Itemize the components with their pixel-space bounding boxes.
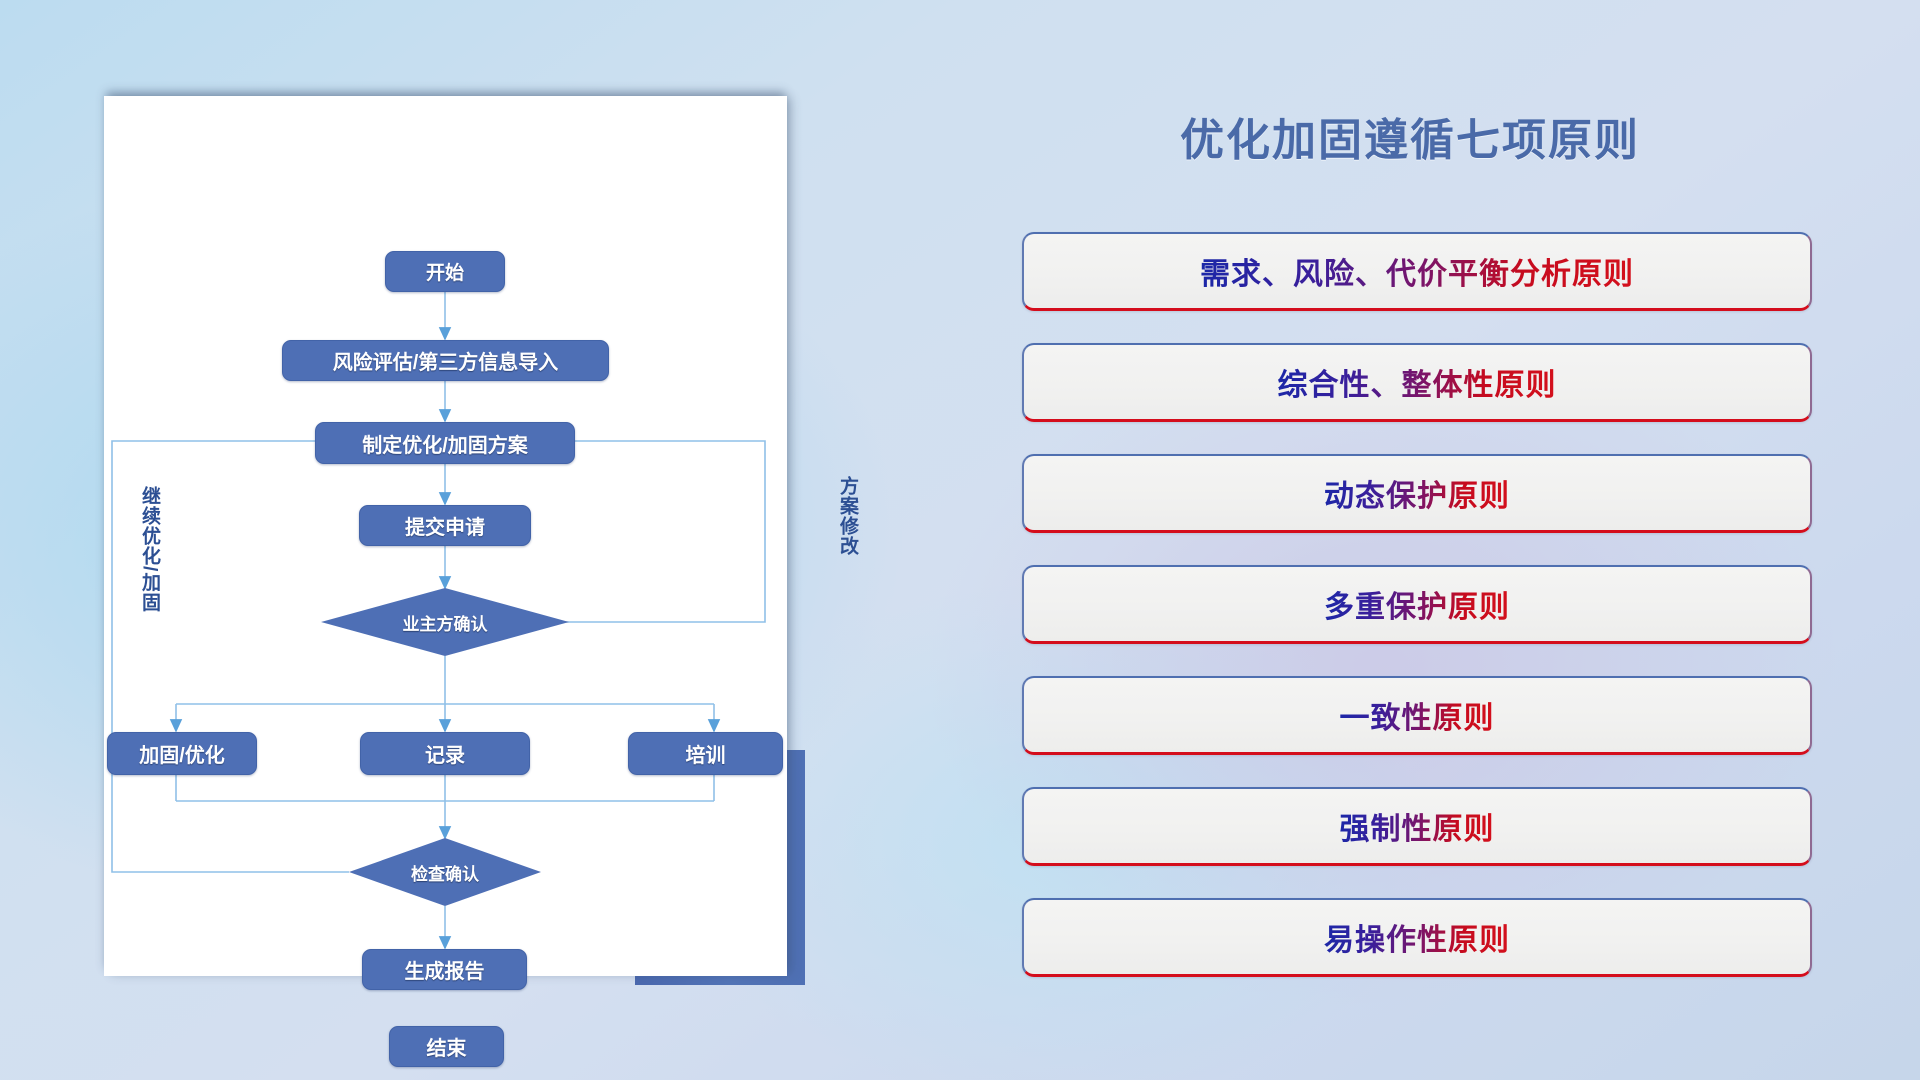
principle-label: 综合性、整体性原则 (1278, 360, 1557, 404)
flow-node-generate-report[interactable]: 生成报告 (362, 949, 527, 990)
flow-node-label: 生成报告 (405, 955, 485, 984)
flow-node-label: 业主方确认 (321, 588, 569, 656)
flow-node-label: 检查确认 (349, 838, 541, 906)
edge-label-left-loop: 继续优化/加固 (136, 486, 163, 612)
flow-node-owner-confirm[interactable]: 业主方确认 (321, 588, 569, 656)
flow-node-label: 记录 (425, 739, 465, 768)
principle-card[interactable]: 综合性、整体性原则 (1022, 343, 1812, 422)
flow-node-plan[interactable]: 制定优化/加固方案 (315, 422, 575, 464)
flow-node-training[interactable]: 培训 (628, 732, 783, 775)
flow-node-label: 风险评估/第三方信息导入 (333, 346, 559, 375)
flow-node-label: 结束 (427, 1032, 467, 1061)
flow-node-end[interactable]: 结束 (389, 1026, 504, 1067)
principle-label: 一致性原则 (1340, 693, 1495, 737)
flow-node-label: 加固/优化 (139, 739, 225, 768)
principle-card[interactable]: 强制性原则 (1022, 787, 1812, 866)
edge-label-right-loop: 方案修改 (834, 476, 861, 556)
flow-node-risk-assessment[interactable]: 风险评估/第三方信息导入 (282, 340, 609, 381)
flowchart-panel: 开始 风险评估/第三方信息导入 制定优化/加固方案 提交申请 业主方确认 加固/… (104, 96, 787, 976)
principles-list: 需求、风险、代价平衡分析原则 综合性、整体性原则 动态保护原则 多重保护原则 一… (1022, 232, 1812, 1009)
flow-node-submit-application[interactable]: 提交申请 (359, 505, 531, 546)
principle-card[interactable]: 需求、风险、代价平衡分析原则 (1022, 232, 1812, 311)
principle-label: 强制性原则 (1340, 804, 1495, 848)
principle-card[interactable]: 多重保护原则 (1022, 565, 1812, 644)
flow-node-start[interactable]: 开始 (385, 251, 505, 292)
flow-node-label: 制定优化/加固方案 (362, 429, 528, 458)
flow-node-label: 开始 (426, 258, 464, 285)
principle-label: 需求、风险、代价平衡分析原则 (1200, 249, 1634, 293)
flow-node-reinforce[interactable]: 加固/优化 (107, 732, 257, 775)
flow-node-record[interactable]: 记录 (360, 732, 530, 775)
flow-node-label: 培训 (686, 739, 726, 768)
slide-canvas: 开始 风险评估/第三方信息导入 制定优化/加固方案 提交申请 业主方确认 加固/… (0, 0, 1920, 1080)
flow-node-label: 提交申请 (405, 511, 485, 540)
flow-node-check-confirm[interactable]: 检查确认 (349, 838, 541, 906)
principle-label: 多重保护原则 (1324, 582, 1510, 626)
principle-card[interactable]: 一致性原则 (1022, 676, 1812, 755)
principle-label: 动态保护原则 (1324, 471, 1510, 515)
principle-label: 易操作性原则 (1324, 915, 1510, 959)
page-title: 优化加固遵循七项原则 (1110, 104, 1710, 168)
principle-card[interactable]: 动态保护原则 (1022, 454, 1812, 533)
principle-card[interactable]: 易操作性原则 (1022, 898, 1812, 977)
flowchart: 开始 风险评估/第三方信息导入 制定优化/加固方案 提交申请 业主方确认 加固/… (104, 96, 787, 976)
